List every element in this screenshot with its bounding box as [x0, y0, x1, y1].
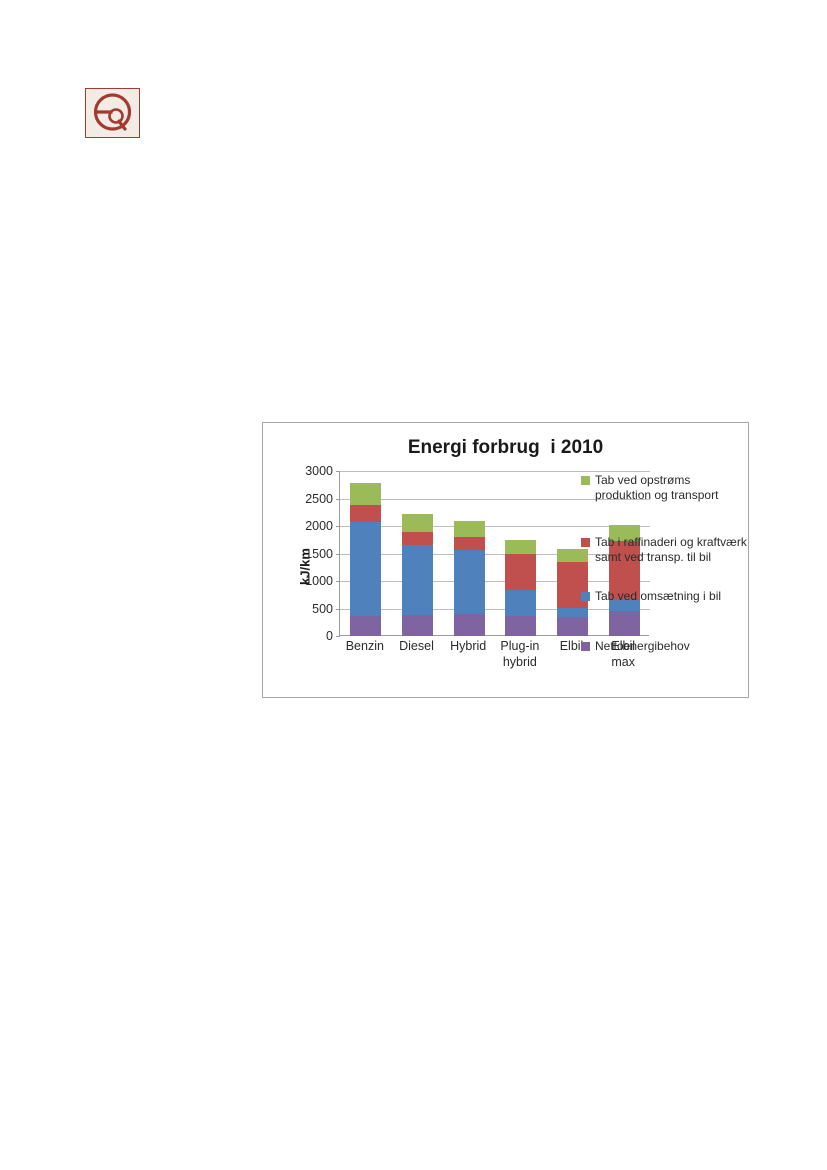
bar-segment[interactable] [350, 616, 381, 636]
y-axis-tick-label: 1000 [285, 575, 333, 588]
bar-group [392, 471, 444, 636]
y-axis-tick-label: 1500 [285, 547, 333, 560]
x-axis-tick-label: Plug-in hybrid [494, 639, 546, 670]
bar-segment[interactable] [557, 617, 588, 636]
legend-item-label: Nettoenergibehov [595, 639, 690, 654]
x-axis-tick-label: Diesel [391, 639, 443, 670]
bar-segment[interactable] [505, 540, 536, 554]
bar-segment[interactable] [505, 554, 536, 590]
stacked-bar[interactable] [402, 514, 433, 636]
bar-segment[interactable] [402, 545, 433, 615]
bar-segment[interactable] [505, 616, 536, 636]
legend-item[interactable]: Nettoenergibehov [581, 639, 747, 654]
logo [85, 88, 140, 138]
bar-segment[interactable] [350, 483, 381, 504]
bar-segment[interactable] [557, 608, 588, 617]
bar-group [443, 471, 495, 636]
y-axis-tick-label: 2000 [285, 520, 333, 533]
plot-wrapper: kJ/km 300025002000150010005000 BenzinDie… [263, 423, 750, 699]
bar-segment[interactable] [402, 615, 433, 636]
legend-item[interactable]: Tab i raffinaderi og kraftværk samt ved … [581, 535, 747, 566]
legend-item-label: Tab ved omsætning i bil [595, 589, 721, 604]
bar-segment[interactable] [505, 590, 536, 617]
bar-segment[interactable] [350, 522, 381, 616]
x-axis-tick-label: Benzin [339, 639, 391, 670]
y-axis-tick-label: 2500 [285, 492, 333, 505]
y-axis-tick-labels: 300025002000150010005000 [285, 471, 333, 636]
bar-group [495, 471, 547, 636]
legend-item[interactable]: Tab ved omsætning i bil [581, 589, 747, 604]
bar-segment[interactable] [402, 532, 433, 545]
bar-segment[interactable] [454, 550, 485, 614]
stacked-bar[interactable] [505, 540, 536, 637]
y-axis-tick-label: 500 [285, 602, 333, 615]
bar-segment[interactable] [454, 521, 485, 537]
legend-item-label: Tab i raffinaderi og kraftværk samt ved … [595, 535, 747, 566]
legend-item-label: Tab ved opstrøms produktion og transport [595, 473, 747, 504]
bar-segment[interactable] [454, 537, 485, 550]
bar-segment[interactable] [454, 614, 485, 636]
bar-segment[interactable] [350, 505, 381, 522]
stacked-bar[interactable] [350, 483, 381, 636]
bar-segment[interactable] [609, 611, 640, 636]
legend-color-swatch [581, 538, 590, 547]
legend-item[interactable]: Tab ved opstrøms produktion og transport [581, 473, 747, 504]
y-axis-tick-mark [336, 636, 340, 637]
bar-segment[interactable] [402, 514, 433, 531]
chart-container: Energi forbrug i 2010 kJ/km 300025002000… [262, 422, 749, 698]
x-axis-tick-label: Hybrid [442, 639, 494, 670]
stacked-bar[interactable] [454, 521, 485, 636]
ea-monogram-icon [86, 89, 139, 137]
y-axis-tick-label: 3000 [285, 465, 333, 478]
bar-group [340, 471, 392, 636]
legend-color-swatch [581, 476, 590, 485]
legend-color-swatch [581, 592, 590, 601]
y-axis-tick-label: 0 [285, 630, 333, 643]
legend-color-swatch [581, 642, 590, 651]
